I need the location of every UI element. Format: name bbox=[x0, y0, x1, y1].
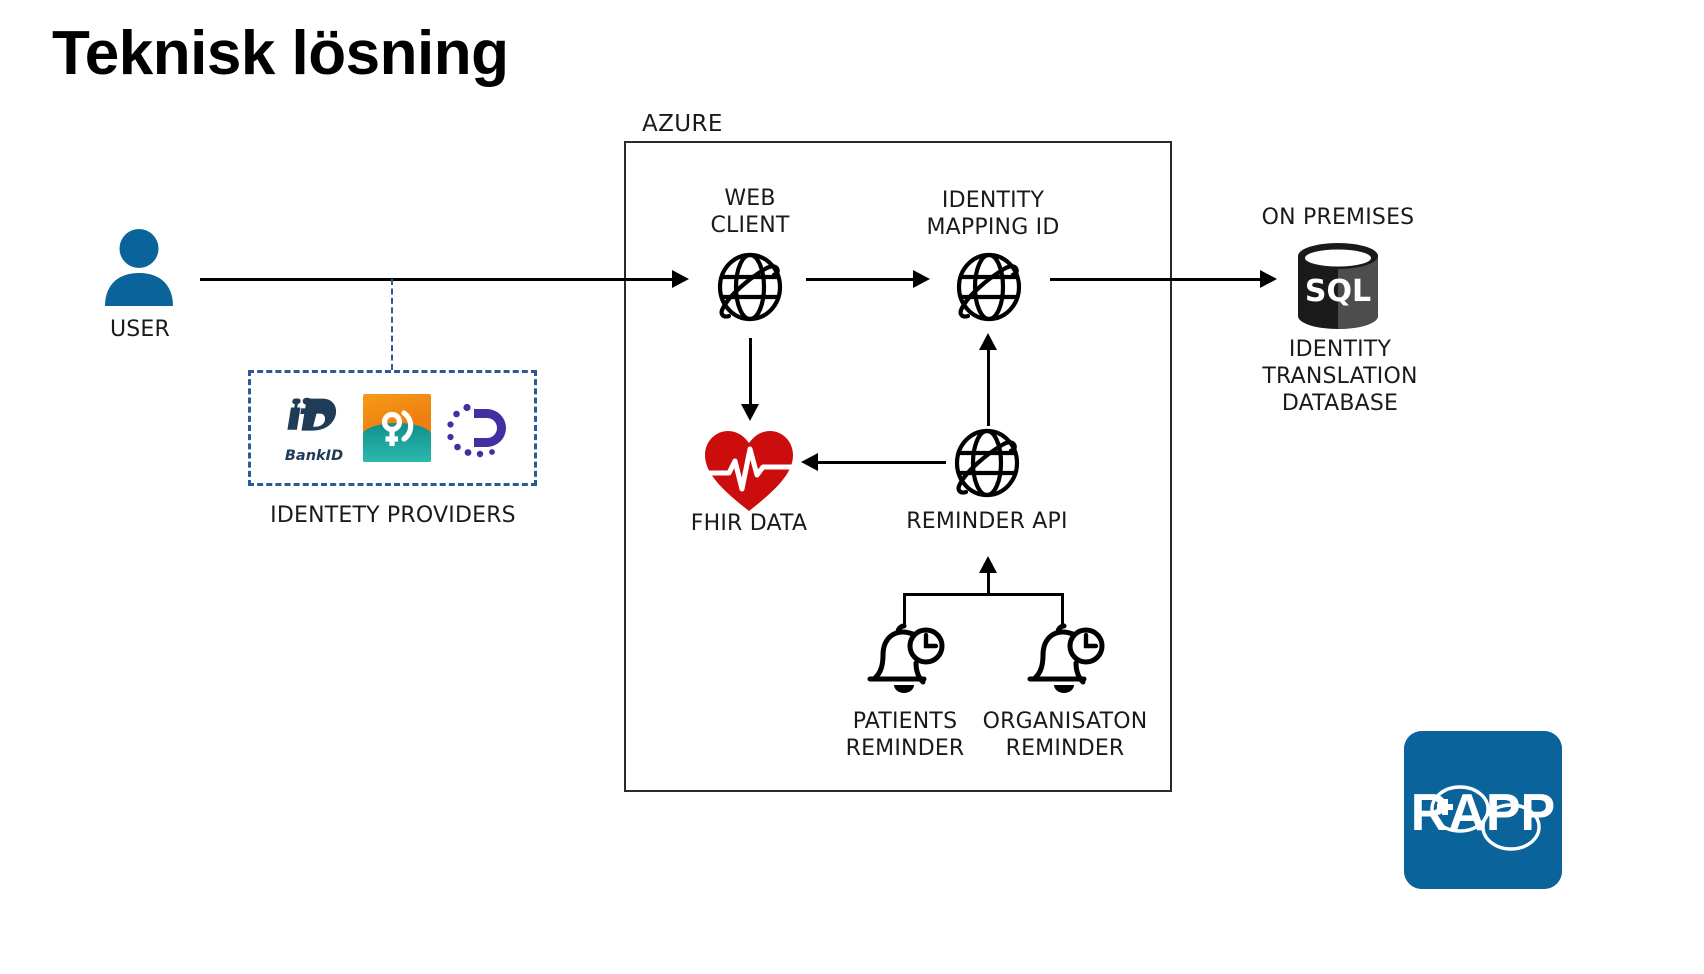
fhir-data-label: FHIR DATA bbox=[659, 510, 839, 537]
freja-logo bbox=[363, 394, 431, 462]
edge-identity-mapping-to-database bbox=[1050, 278, 1264, 281]
rapp-wordmark: RAPP bbox=[1411, 784, 1555, 842]
bell-clock-icon bbox=[858, 619, 950, 699]
organisation-reminder-label: ORGANISATON REMINDER bbox=[975, 708, 1155, 762]
bell-clock-icon bbox=[1018, 619, 1110, 699]
svg-text:BankID: BankID bbox=[284, 448, 342, 464]
sql-badge-text: SQL bbox=[1305, 274, 1371, 309]
patients-reminder-label: PATIENTS REMINDER bbox=[815, 708, 995, 762]
rapp-logo: RAPP bbox=[1404, 731, 1562, 889]
arrowhead-web-client-to-identity-mapping bbox=[913, 270, 930, 288]
on-premises-label: ON PREMISES bbox=[1230, 204, 1446, 231]
edge-web-client-to-identity-mapping bbox=[806, 278, 916, 281]
edge-reminders-bracket bbox=[903, 593, 1063, 596]
edge-web-client-to-fhir bbox=[749, 338, 752, 408]
edge-reminder-api-to-fhir bbox=[818, 461, 946, 464]
web-client-label: WEB CLIENT bbox=[668, 185, 832, 239]
user-label: USER bbox=[60, 316, 220, 343]
dotted-d-logo bbox=[441, 393, 511, 463]
edge-user-to-web-client bbox=[200, 278, 676, 281]
arrowhead-reminders-to-reminder-api bbox=[979, 556, 997, 573]
slide-canvas: Teknisk lösning AZURE USER Bank bbox=[0, 0, 1704, 974]
page-title: Teknisk lösning bbox=[52, 20, 508, 88]
bankid-logo: BankID bbox=[275, 391, 353, 465]
arrowhead-reminder-api-to-fhir bbox=[801, 453, 818, 471]
reminder-api-label: REMINDER API bbox=[887, 508, 1087, 535]
azure-boundary-label: AZURE bbox=[642, 111, 723, 138]
edge-reminders-trunk bbox=[987, 570, 990, 595]
identity-translation-db-label: IDENTITY TRANSLATION DATABASE bbox=[1248, 336, 1432, 417]
arrowhead-user-to-web-client bbox=[672, 270, 689, 288]
edge-reminder-api-to-identity-mapping bbox=[987, 348, 990, 426]
arrowhead-identity-mapping-to-database bbox=[1260, 270, 1277, 288]
identity-mapping-label: IDENTITY MAPPING ID bbox=[896, 187, 1090, 241]
identity-providers-box: BankID bbox=[248, 370, 537, 486]
arrowhead-web-client-to-fhir bbox=[741, 404, 759, 421]
globe-icon bbox=[944, 420, 1030, 506]
heart-pulse-icon bbox=[701, 427, 797, 513]
globe-icon bbox=[707, 244, 793, 330]
user-icon bbox=[100, 228, 178, 308]
globe-icon bbox=[946, 244, 1032, 330]
sql-database-icon: SQL bbox=[1296, 243, 1380, 329]
identity-providers-label: IDENTETY PROVIDERS bbox=[213, 502, 573, 529]
arrowhead-reminder-api-to-identity-mapping bbox=[979, 333, 997, 350]
edge-idp-to-user-line bbox=[391, 279, 393, 370]
